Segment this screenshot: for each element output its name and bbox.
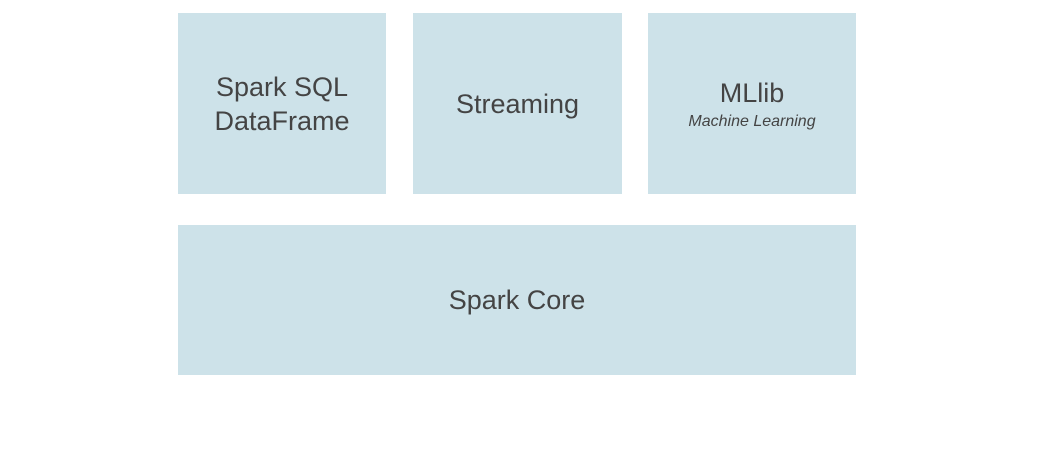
block-spark-core: Spark Core [178,225,856,375]
block-mllib-title: MLlib [720,76,785,110]
block-spark-sql-title: Spark SQL DataFrame [214,70,349,138]
diagram-canvas: Spark SQL DataFrame Streaming MLlib Mach… [0,0,1053,457]
block-spark-sql: Spark SQL DataFrame [178,13,386,194]
block-mllib-subtitle: Machine Learning [688,111,815,132]
block-spark-core-title: Spark Core [449,284,586,317]
block-streaming: Streaming [413,13,622,194]
block-mllib: MLlib Machine Learning [648,13,856,194]
block-streaming-title: Streaming [456,87,579,121]
